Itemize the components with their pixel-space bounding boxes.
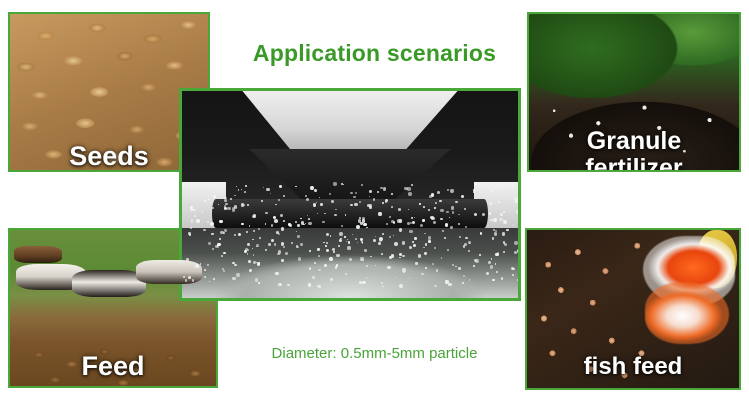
fish-feed-label: fish feed <box>527 354 739 380</box>
machine-demo-photo-card[interactable] <box>179 88 521 301</box>
granule-fertilizer-label-line2: fertilizer <box>529 155 739 172</box>
application-scenarios-banner: Application scenarios Seeds Granule fert… <box>0 0 749 400</box>
scenario-card-granule-fertilizer[interactable]: Granule fertilizer <box>527 12 741 172</box>
seeds-label: Seeds <box>10 142 208 171</box>
granule-fertilizer-label-line1: Granule <box>529 128 739 155</box>
granule-fertilizer-label: Granule fertilizer <box>529 128 739 172</box>
cow-silhouette <box>72 270 146 316</box>
koi-fish-shape <box>645 282 729 344</box>
scenario-card-fish-feed[interactable]: fish feed <box>525 228 741 390</box>
feed-label: Feed <box>10 352 216 381</box>
